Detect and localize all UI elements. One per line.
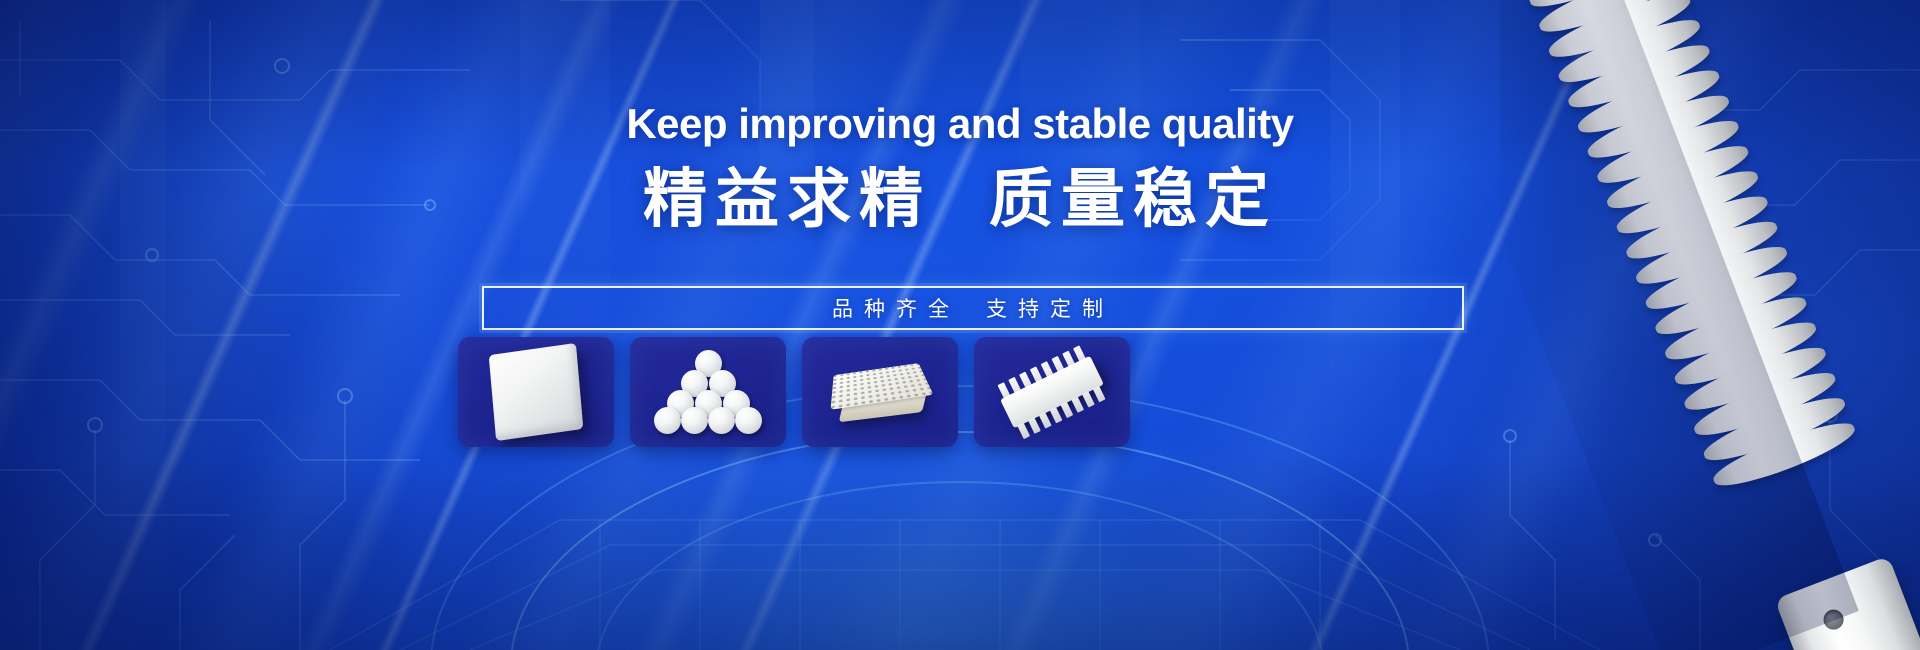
ceramic-balls-icon: [630, 337, 786, 447]
headline-chinese-right: 质量稳定: [989, 163, 1277, 235]
product-card-ceramic-comb-grid[interactable]: [974, 337, 1130, 447]
headline-english-regular: and stable quality: [937, 100, 1294, 147]
product-card-list: [458, 337, 1468, 447]
banner-stage: Keep improving and stable quality 精益求精质量…: [0, 0, 1920, 650]
ceramic-plate-icon: [458, 337, 614, 447]
product-card-honeycomb-ceramic[interactable]: [802, 337, 958, 447]
corrugated-ceramic-tube: [1500, 0, 1920, 650]
tube-end-collar: [1774, 556, 1920, 650]
product-card-ceramic-plate[interactable]: [458, 337, 614, 447]
tube-body: [1505, 0, 1920, 650]
product-card-ceramic-balls[interactable]: [630, 337, 786, 447]
tagline-right: 支持定制: [986, 298, 1114, 321]
headline-chinese-left: 精益求精: [643, 163, 931, 235]
tagline-box: 品种齐全支持定制: [482, 286, 1464, 330]
banner-content: Keep improving and stable quality 精益求精质量…: [0, 0, 1920, 650]
honeycomb-ceramic-icon: [802, 337, 958, 447]
tagline-left: 品种齐全: [832, 298, 960, 321]
tagline-text: 品种齐全支持定制: [832, 293, 1114, 323]
ceramic-comb-grid-icon: [974, 337, 1130, 447]
headline-english-bold: Keep improving: [626, 100, 936, 147]
